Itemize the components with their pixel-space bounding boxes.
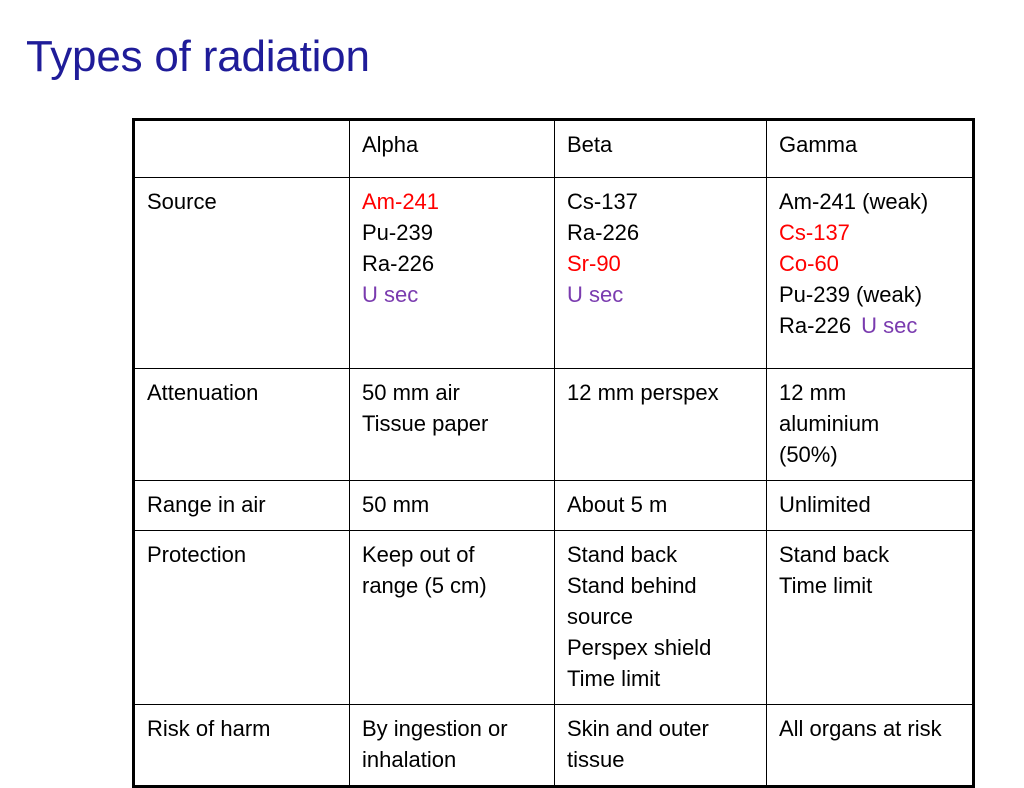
cell-line: 12 mm — [779, 377, 962, 408]
cell-attenuation-gamma: 12 mmaluminium(50%) — [767, 369, 974, 481]
cell-source-beta: Cs-137Ra-226Sr-90U sec — [555, 178, 767, 369]
cell-text: Cs-137 — [567, 189, 638, 214]
cell-line: Skin and outer — [567, 713, 756, 744]
cell-line: source — [567, 601, 756, 632]
cell-text: U sec — [362, 282, 418, 307]
cell-text: Keep out of — [362, 542, 475, 567]
cell-text: All organs at risk — [779, 716, 942, 741]
cell-text: Perspex shield — [567, 635, 711, 660]
cell-range-beta: About 5 m — [555, 481, 767, 531]
cell-line: Am-241 — [362, 186, 544, 217]
header-cell-alpha: Alpha — [350, 120, 555, 178]
cell-line: Sr-90 — [567, 248, 756, 279]
cell-line: (50%) — [779, 439, 962, 470]
cell-text: 50 mm — [362, 492, 429, 517]
cell-text: Stand back — [567, 542, 677, 567]
cell-protection-beta: Stand backStand behindsourcePerspex shie… — [555, 531, 767, 705]
cell-line: Ra-226 — [362, 248, 544, 279]
cell-text: Time limit — [779, 573, 872, 598]
cell-source-gamma: Am-241 (weak)Cs-137Co-60Pu-239 (weak)Ra-… — [767, 178, 974, 369]
cell-text: Ra-226 — [362, 251, 434, 276]
cell-source-alpha: Am-241Pu-239Ra-226U sec — [350, 178, 555, 369]
cell-text: About 5 m — [567, 492, 667, 517]
cell-line: Cs-137 — [567, 186, 756, 217]
row-label-source: Source — [134, 178, 350, 369]
cell-text: 50 mm air — [362, 380, 460, 405]
cell-line: Stand back — [779, 539, 962, 570]
cell-text: tissue — [567, 747, 624, 772]
cell-line: Am-241 (weak) — [779, 186, 962, 217]
cell-text: U sec — [567, 282, 623, 307]
cell-text: 12 mm — [779, 380, 846, 405]
table-row: Attenuation 50 mm airTissue paper 12 mm … — [134, 369, 974, 481]
row-label-range-in-air: Range in air — [134, 481, 350, 531]
cell-line: Ra-226U sec — [779, 310, 962, 341]
cell-text: Ra-226 — [567, 220, 639, 245]
table-row: Range in air 50 mm About 5 m Unlimited — [134, 481, 974, 531]
cell-text: aluminium — [779, 411, 879, 436]
cell-text: Stand back — [779, 542, 889, 567]
cell-line: 12 mm perspex — [567, 377, 756, 408]
table-body: Alpha Beta Gamma Source Am-241Pu-239Ra-2… — [134, 120, 974, 787]
cell-text: Am-241 — [362, 189, 439, 214]
cell-text: Skin and outer — [567, 716, 709, 741]
row-label-risk-of-harm: Risk of harm — [134, 705, 350, 787]
cell-text: Cs-137 — [779, 220, 850, 245]
header-cell-beta: Beta — [555, 120, 767, 178]
cell-attenuation-beta: 12 mm perspex — [555, 369, 767, 481]
table-header-row: Alpha Beta Gamma — [134, 120, 974, 178]
cell-text: Unlimited — [779, 492, 871, 517]
cell-line: Pu-239 — [362, 217, 544, 248]
cell-text: Stand behind — [567, 573, 697, 598]
cell-line: 50 mm air — [362, 377, 544, 408]
cell-risk-beta: Skin and outertissue — [555, 705, 767, 787]
cell-text: Sr-90 — [567, 251, 621, 276]
cell-line: Ra-226 — [567, 217, 756, 248]
cell-line: Keep out of — [362, 539, 544, 570]
cell-line: Time limit — [779, 570, 962, 601]
table-row: Risk of harm By ingestion orinhalation S… — [134, 705, 974, 787]
cell-attenuation-alpha: 50 mm airTissue paper — [350, 369, 555, 481]
cell-protection-alpha: Keep out ofrange (5 cm) — [350, 531, 555, 705]
cell-text: source — [567, 604, 633, 629]
cell-text: Co-60 — [779, 251, 839, 276]
cell-line: 50 mm — [362, 489, 544, 520]
cell-line: aluminium — [779, 408, 962, 439]
cell-protection-gamma: Stand backTime limit — [767, 531, 974, 705]
cell-risk-gamma: All organs at risk — [767, 705, 974, 787]
cell-text: range (5 cm) — [362, 573, 487, 598]
cell-text: Tissue paper — [362, 411, 488, 436]
header-cell-blank — [134, 120, 350, 178]
table-row: Source Am-241Pu-239Ra-226U sec Cs-137Ra-… — [134, 178, 974, 369]
cell-range-alpha: 50 mm — [350, 481, 555, 531]
cell-range-gamma: Unlimited — [767, 481, 974, 531]
cell-line: Perspex shield — [567, 632, 756, 663]
cell-line: Tissue paper — [362, 408, 544, 439]
cell-text: (50%) — [779, 442, 838, 467]
cell-line: Stand back — [567, 539, 756, 570]
cell-line: Cs-137 — [779, 217, 962, 248]
cell-line: About 5 m — [567, 489, 756, 520]
cell-text: Pu-239 — [362, 220, 433, 245]
cell-text: Ra-226 — [779, 313, 851, 338]
radiation-comparison-table: Alpha Beta Gamma Source Am-241Pu-239Ra-2… — [132, 118, 975, 788]
cell-line: tissue — [567, 744, 756, 775]
cell-text: By ingestion or — [362, 716, 508, 741]
page-title: Types of radiation — [26, 30, 370, 84]
cell-line: Stand behind — [567, 570, 756, 601]
cell-line: U sec — [362, 279, 544, 310]
cell-line: Co-60 — [779, 248, 962, 279]
cell-line: range (5 cm) — [362, 570, 544, 601]
cell-text: Pu-239 (weak) — [779, 282, 922, 307]
header-cell-gamma: Gamma — [767, 120, 974, 178]
cell-line: By ingestion or — [362, 713, 544, 744]
cell-line: Pu-239 (weak) — [779, 279, 962, 310]
table-row: Protection Keep out ofrange (5 cm) Stand… — [134, 531, 974, 705]
cell-text-secondary: U sec — [861, 313, 917, 338]
cell-line: Unlimited — [779, 489, 962, 520]
cell-line: Time limit — [567, 663, 756, 694]
cell-text: 12 mm perspex — [567, 380, 719, 405]
cell-risk-alpha: By ingestion orinhalation — [350, 705, 555, 787]
cell-line: inhalation — [362, 744, 544, 775]
cell-text: Am-241 (weak) — [779, 189, 928, 214]
row-label-attenuation: Attenuation — [134, 369, 350, 481]
row-label-protection: Protection — [134, 531, 350, 705]
cell-text: Time limit — [567, 666, 660, 691]
cell-line: All organs at risk — [779, 713, 962, 744]
cell-text: inhalation — [362, 747, 456, 772]
cell-line: U sec — [567, 279, 756, 310]
